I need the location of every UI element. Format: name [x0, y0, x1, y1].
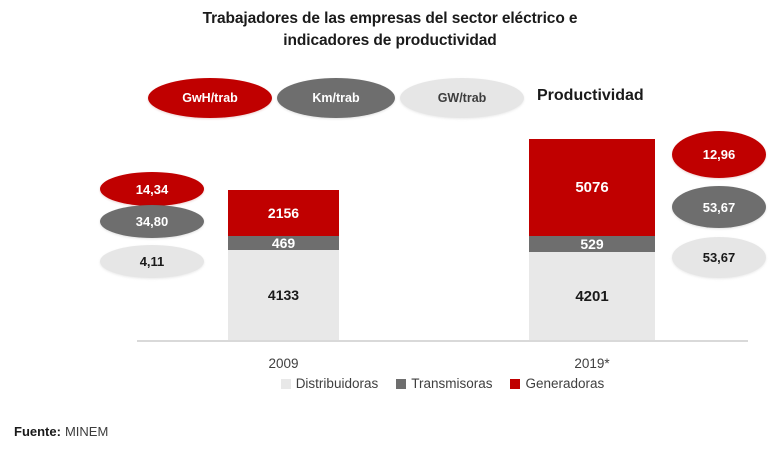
chart-title-line-1: Trabajadores de las empresas del sector …	[110, 8, 670, 30]
productivity-key-gw-trab: GW/trab	[400, 78, 524, 118]
chart-title: Trabajadores de las empresas del sector …	[110, 8, 670, 52]
legend-swatch-distribuidoras-icon	[281, 379, 291, 389]
bar-value-2009-transmisoras: 469	[272, 235, 295, 251]
bar-value-2019-distribuidoras: 4201	[575, 288, 608, 305]
bar-segment-2009-transmisoras: 469	[228, 236, 339, 250]
series-legend: Distribuidoras Transmisoras Generadoras	[137, 376, 748, 391]
chart-canvas: Trabajadores de las empresas del sector …	[0, 0, 773, 450]
source-note-value: MINEM	[65, 424, 108, 439]
legend-label-distribuidoras: Distribuidoras	[296, 376, 379, 391]
bar-segment-2019-transmisoras: 529	[529, 236, 655, 252]
bar-value-2009-generadoras: 2156	[268, 205, 299, 221]
bar-stack-2019: 5076 529 4201	[529, 139, 655, 340]
bar-value-2019-generadoras: 5076	[575, 179, 608, 196]
bar-segment-2009-distribuidoras: 4133	[228, 250, 339, 340]
productivity-value-2019-km-trab: 53,67	[672, 186, 766, 228]
productivity-key-km-trab-label: Km/trab	[312, 91, 359, 105]
bar-stack-2009: 2156 469 4133	[228, 190, 339, 340]
productivity-value-2009-km-trab: 34,80	[100, 205, 204, 238]
productivity-key-km-trab: Km/trab	[277, 78, 395, 118]
productivity-value-2009-gwh-trab-text: 14,34	[136, 182, 169, 197]
legend-label-transmisoras: Transmisoras	[411, 376, 492, 391]
productivity-value-2019-gw-trab-text: 53,67	[703, 250, 736, 265]
legend-item-distribuidoras: Distribuidoras	[281, 376, 379, 391]
bar-segment-2009-generadoras: 2156	[228, 190, 339, 236]
legend-swatch-transmisoras-icon	[396, 379, 406, 389]
bar-value-2019-transmisoras: 529	[580, 236, 603, 252]
legend-swatch-generadoras-icon	[510, 379, 520, 389]
productivity-key-gwh-trab: GwH/trab	[148, 78, 272, 118]
productivity-value-2009-gw-trab: 4,11	[100, 245, 204, 278]
productivity-value-2009-gwh-trab: 14,34	[100, 172, 204, 206]
productivity-value-2019-gw-trab: 53,67	[672, 237, 766, 278]
legend-item-generadoras: Generadoras	[510, 376, 604, 391]
bar-value-2009-distribuidoras: 4133	[268, 287, 299, 303]
source-note-label: Fuente:	[14, 424, 61, 439]
productivity-key-gw-trab-label: GW/trab	[438, 91, 487, 105]
category-label-2019: 2019*	[529, 356, 655, 371]
source-note: Fuente:MINEM	[14, 424, 108, 439]
category-label-2009: 2009	[228, 356, 339, 371]
productivity-value-2019-km-trab-text: 53,67	[703, 200, 736, 215]
productivity-value-2009-km-trab-text: 34,80	[136, 214, 169, 229]
bar-segment-2019-distribuidoras: 4201	[529, 252, 655, 340]
bar-segment-2019-generadoras: 5076	[529, 139, 655, 236]
productivity-value-2019-gwh-trab: 12,96	[672, 131, 766, 178]
chart-title-line-2: indicadores de productividad	[110, 30, 670, 52]
productivity-key-gwh-trab-label: GwH/trab	[182, 91, 238, 105]
productivity-value-2019-gwh-trab-text: 12,96	[703, 147, 736, 162]
legend-label-generadoras: Generadoras	[525, 376, 604, 391]
category-axis-line	[137, 340, 748, 342]
legend-item-transmisoras: Transmisoras	[396, 376, 492, 391]
productivity-heading: Productividad	[537, 87, 644, 105]
productivity-value-2009-gw-trab-text: 4,11	[140, 254, 165, 269]
